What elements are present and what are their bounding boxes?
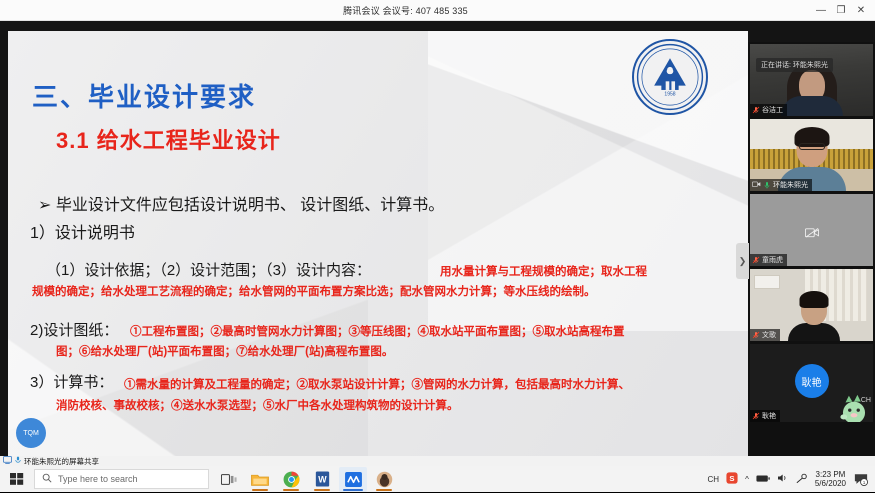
clock-date: 5/6/2020 [815,479,846,488]
participant-nameplate-1: 环能朱熙光 [750,179,812,191]
slide-line-3: 用水量计算与工程规模的确定；取水工程 [440,263,647,279]
slide-line-7: 图；⑥给水处理厂(站)平面布置图；⑦给水处理厂(站)高程布置图。 [56,343,393,359]
slide-subheading: 3.1 给水工程毕业设计 [56,123,281,155]
taskbar-item-chrome[interactable] [277,467,305,492]
title-bar: 腾讯会议 会议号: 407 485 335 — ❐ ✕ [0,0,875,21]
participant-name-3: 文歌 [762,330,776,340]
taskbar-item-file-explorer[interactable] [246,467,274,492]
taskbar-item-word[interactable]: W [308,467,336,492]
participant-tile-3[interactable]: 文歌 [750,269,873,341]
taskbar-item-photos[interactable] [370,467,398,492]
microphone-muted-icon [752,412,760,420]
participant-avatar-4: 耿艳 [795,364,829,398]
screen-share-indicator: 环能朱熙光的屏幕共享 [0,456,875,466]
close-button[interactable]: ✕ [851,0,871,21]
notification-center-icon[interactable]: 1 [853,470,869,488]
participant-tile-2[interactable]: 童雨虎 [750,194,873,266]
microphone-muted-icon [752,331,760,339]
minimize-button[interactable]: — [811,0,831,21]
volume-muted-icon[interactable] [777,473,789,485]
slide-line-2: （1）设计依据；（2）设计范围；（3）设计内容： [46,259,371,280]
slide-heading: 三、毕业设计要求 [32,77,256,114]
speaking-tooltip: 正在讲话: 环能朱熙光 [756,58,833,72]
participant-name-2: 童雨虎 [762,255,783,265]
share-indicator-label: 环能朱熙光的屏幕共享 [24,456,99,467]
battery-icon[interactable] [756,474,770,485]
slide-line-1: 1）设计说明书 [30,219,135,243]
participant-tile-4[interactable]: 耿艳 耿艳 CH [750,344,873,422]
svg-text:S: S [730,474,735,483]
participant-rail: 正在讲话: 环能朱熙光 谷洁工 环 [748,42,875,482]
windows-taskbar: Type here to search W [0,465,875,492]
slide-line-0: ➢ 毕业设计文件应包括设计说明书、 设计图纸、计算书。 [38,191,444,215]
meeting-title: 腾讯会议 会议号: 407 485 335 [0,4,811,17]
system-tray: CH S ^ 3:23 PM 5/6/2020 1 [708,470,875,488]
svg-text:1: 1 [863,480,866,486]
clock[interactable]: 3:23 PM 5/6/2020 [815,470,846,488]
participant-tile-1[interactable]: 环能朱熙光 [750,119,873,191]
clock-time: 3:23 PM [815,470,846,479]
meeting-body: 1958 三、毕业设计要求 3.1 给水工程毕业设计 ➢ 毕业设计文件应包括设计… [0,21,875,461]
slide-line-5: 2)设计图纸： [30,319,118,340]
participant-nameplate-3: 文歌 [750,329,780,341]
svg-text:1958: 1958 [664,92,675,98]
presenter-avatar: TQM [16,418,46,448]
participant-nameplate-0: 谷洁工 [750,104,787,116]
taskbar-items: W [215,467,398,492]
camera-on-icon [752,181,761,189]
collapse-panel-button[interactable]: ❯ [736,243,749,279]
search-icon [42,473,52,485]
maximize-button[interactable]: ❐ [831,0,851,21]
participant-tile-0[interactable]: 正在讲话: 环能朱熙光 谷洁工 [750,44,873,116]
microphone-muted-icon [752,106,760,114]
participant-nameplate-4: 耿艳 [750,410,780,422]
taskbar-item-task-view[interactable] [215,467,243,492]
microphone-muted-icon [752,256,760,264]
slide-line-4: 规模的确定；给水处理工艺流程的确定；给水管网的平面布置方案比选；配水管网水力计算… [32,283,596,299]
tencent-meeting-window: 腾讯会议 会议号: 407 485 335 — ❐ ✕ [0,0,875,492]
chevron-up-icon[interactable]: ^ [745,475,749,484]
slide-line-8: 3）计算书： [30,371,113,392]
screen-share-icon [3,456,12,466]
search-input[interactable]: Type here to search [34,469,209,489]
participant-name-4: 耿艳 [762,411,776,421]
sogou-ime-icon[interactable]: S [726,472,738,486]
ime-indicator: CH [861,397,871,404]
ime-language-indicator[interactable]: CH [708,475,720,484]
participant-nameplate-2: 童雨虎 [750,254,787,266]
slide-line-9: ①需水量的计算及工程量的确定；②取水泵站设计计算；③管网的水力计算，包括最高时水… [124,376,630,392]
slide-line-10: 消防校核、事故校核；④送水水泵选型；⑤水厂中各水处理构筑物的设计计算。 [56,397,459,413]
search-placeholder: Type here to search [58,474,138,484]
camera-off-icon [805,225,819,236]
svg-text:W: W [318,475,327,485]
participant-name-0: 谷洁工 [762,105,783,115]
slide-line-6: ①工程布置图；②最高时管网水力计算图；③等压线图；④取水站平面布置图；⑤取水站高… [130,323,625,339]
anhui-jianzhu-university-logo-icon: 1958 [632,39,708,115]
microphone-icon [15,456,21,466]
shared-screen[interactable]: 1958 三、毕业设计要求 3.1 给水工程毕业设计 ➢ 毕业设计文件应包括设计… [8,31,748,456]
taskbar-item-tencent-meeting[interactable] [339,467,367,492]
network-icon[interactable] [796,473,808,486]
window-controls: — ❐ ✕ [811,0,875,21]
microphone-on-icon [763,181,771,189]
windows-start-icon[interactable] [0,466,34,493]
participant-name-1: 环能朱熙光 [773,180,808,190]
